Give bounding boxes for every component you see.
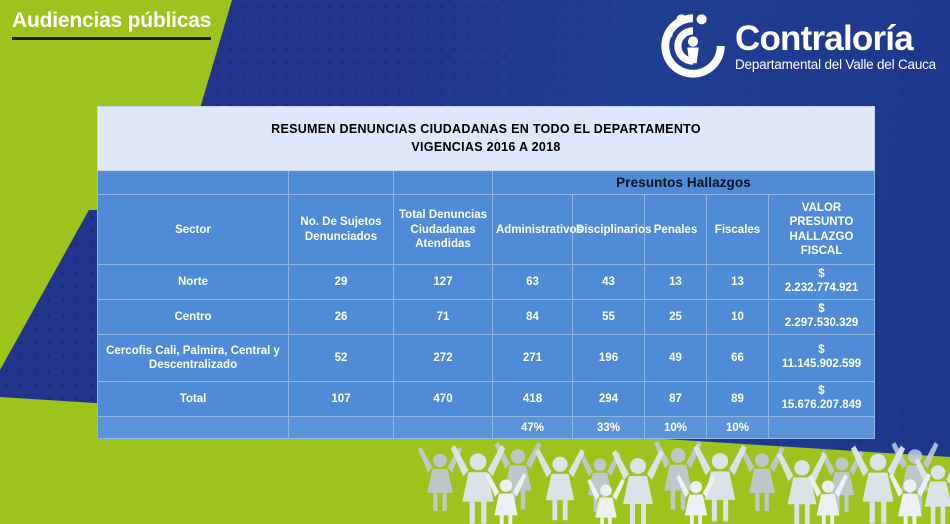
cell-fiscales: 89 — [707, 382, 769, 417]
cell-administrativos: 271 — [493, 335, 573, 382]
denuncias-summary-table: RESUMEN DENUNCIAS CIUDADANAS EN TODO EL … — [97, 106, 875, 439]
pct-spacer-sector — [98, 417, 289, 439]
table-title-cell: RESUMEN DENUNCIAS CIUDADANAS EN TODO EL … — [98, 107, 875, 171]
group-header-spacer-2 — [289, 171, 394, 195]
column-header-sector: Sector — [98, 195, 289, 265]
pct-penales: 10% — [645, 417, 707, 439]
cell-sector: Centro — [98, 300, 289, 335]
cell-administrativos: 418 — [493, 382, 573, 417]
cell-penales: 49 — [645, 335, 707, 382]
contraloria-circle-people-icon — [657, 10, 729, 82]
pct-spacer-valor — [769, 417, 875, 439]
table-title-line2: VIGENCIAS 2016 A 2018 — [104, 138, 868, 156]
column-header-disciplinarios: Disciplinarios — [573, 195, 645, 265]
cell-disciplinarios: 55 — [573, 300, 645, 335]
table-title-row: RESUMEN DENUNCIAS CIUDADANAS EN TODO EL … — [98, 107, 875, 171]
table-row: Norte 29 127 63 43 13 13 $ 2.232.774.921 — [98, 265, 875, 300]
table-row-percentages: 47% 33% 10% 10% — [98, 417, 875, 439]
contraloria-logo: Contraloría Departamental del Valle del … — [657, 10, 936, 82]
valor-amount: 15.676.207.849 — [773, 399, 870, 413]
cell-administrativos: 84 — [493, 300, 573, 335]
table-row-total: Total 107 470 418 294 87 89 $ 15.676.207… — [98, 382, 875, 417]
cell-penales: 13 — [645, 265, 707, 300]
column-header-valor-presunto-hallazgo-fiscal: VALOR PRESUNTO HALLAZGO FISCAL — [769, 195, 875, 265]
table-title-line1: RESUMEN DENUNCIAS CIUDADANAS EN TODO EL … — [104, 120, 868, 138]
column-header-fiscales: Fiscales — [707, 195, 769, 265]
slide-canvas: Audiencias públicas Contraloría Departam… — [0, 0, 950, 524]
pct-disciplinarios: 33% — [573, 417, 645, 439]
cell-disciplinarios: 294 — [573, 382, 645, 417]
valor-amount: 11.145.902.599 — [773, 358, 870, 372]
table-column-header-row: Sector No. De Sujetos Denunciados Total … — [98, 195, 875, 265]
group-header-spacer-3 — [394, 171, 493, 195]
pct-fiscales: 10% — [707, 417, 769, 439]
slide-banner-title: Audiencias públicas — [12, 9, 211, 40]
cell-denuncias: 272 — [394, 335, 493, 382]
valor-symbol: $ — [773, 385, 870, 399]
cell-sujetos: 52 — [289, 335, 394, 382]
logo-subtitle: Departamental del Valle del Cauca — [735, 58, 936, 72]
cell-penales: 87 — [645, 382, 707, 417]
table-row: Cercofis Cali, Palmira, Central y Descen… — [98, 335, 875, 382]
cell-disciplinarios: 196 — [573, 335, 645, 382]
cell-sector: Norte — [98, 265, 289, 300]
group-header-presuntos-hallazgos: Presuntos Hallazgos — [493, 171, 875, 195]
cell-sector: Total — [98, 382, 289, 417]
group-header-spacer-1 — [98, 171, 289, 195]
table-row: Centro 26 71 84 55 25 10 $ 2.297.530.329 — [98, 300, 875, 335]
logo-name: Contraloría — [735, 21, 936, 56]
cell-sujetos: 107 — [289, 382, 394, 417]
cell-denuncias: 127 — [394, 265, 493, 300]
report-table-container: RESUMEN DENUNCIAS CIUDADANAS EN TODO EL … — [97, 106, 874, 439]
valor-amount: 2.297.530.329 — [773, 317, 870, 331]
pct-spacer-sujetos — [289, 417, 394, 439]
table-group-header-row: Presuntos Hallazgos — [98, 171, 875, 195]
valor-amount: 2.232.774.921 — [773, 282, 870, 296]
cell-sujetos: 26 — [289, 300, 394, 335]
pct-spacer-denuncias — [394, 417, 493, 439]
column-header-administrativos: Administrativos — [493, 195, 573, 265]
cell-administrativos: 63 — [493, 265, 573, 300]
column-header-total-denuncias: Total Denuncias Ciudadanas Atendidas — [394, 195, 493, 265]
cell-disciplinarios: 43 — [573, 265, 645, 300]
cell-valor: $ 15.676.207.849 — [769, 382, 875, 417]
cell-denuncias: 470 — [394, 382, 493, 417]
cell-fiscales: 10 — [707, 300, 769, 335]
cell-fiscales: 13 — [707, 265, 769, 300]
cell-valor: $ 2.232.774.921 — [769, 265, 875, 300]
cell-fiscales: 66 — [707, 335, 769, 382]
valor-symbol: $ — [773, 303, 870, 317]
valor-symbol: $ — [773, 268, 870, 282]
valor-symbol: $ — [773, 344, 870, 358]
cell-valor: $ 2.297.530.329 — [769, 300, 875, 335]
cell-sector: Cercofis Cali, Palmira, Central y Descen… — [98, 335, 289, 382]
cell-valor: $ 11.145.902.599 — [769, 335, 875, 382]
cell-penales: 25 — [645, 300, 707, 335]
pct-administrativos: 47% — [493, 417, 573, 439]
column-header-sujetos-denunciados: No. De Sujetos Denunciados — [289, 195, 394, 265]
cell-denuncias: 71 — [394, 300, 493, 335]
column-header-penales: Penales — [645, 195, 707, 265]
cell-sujetos: 29 — [289, 265, 394, 300]
